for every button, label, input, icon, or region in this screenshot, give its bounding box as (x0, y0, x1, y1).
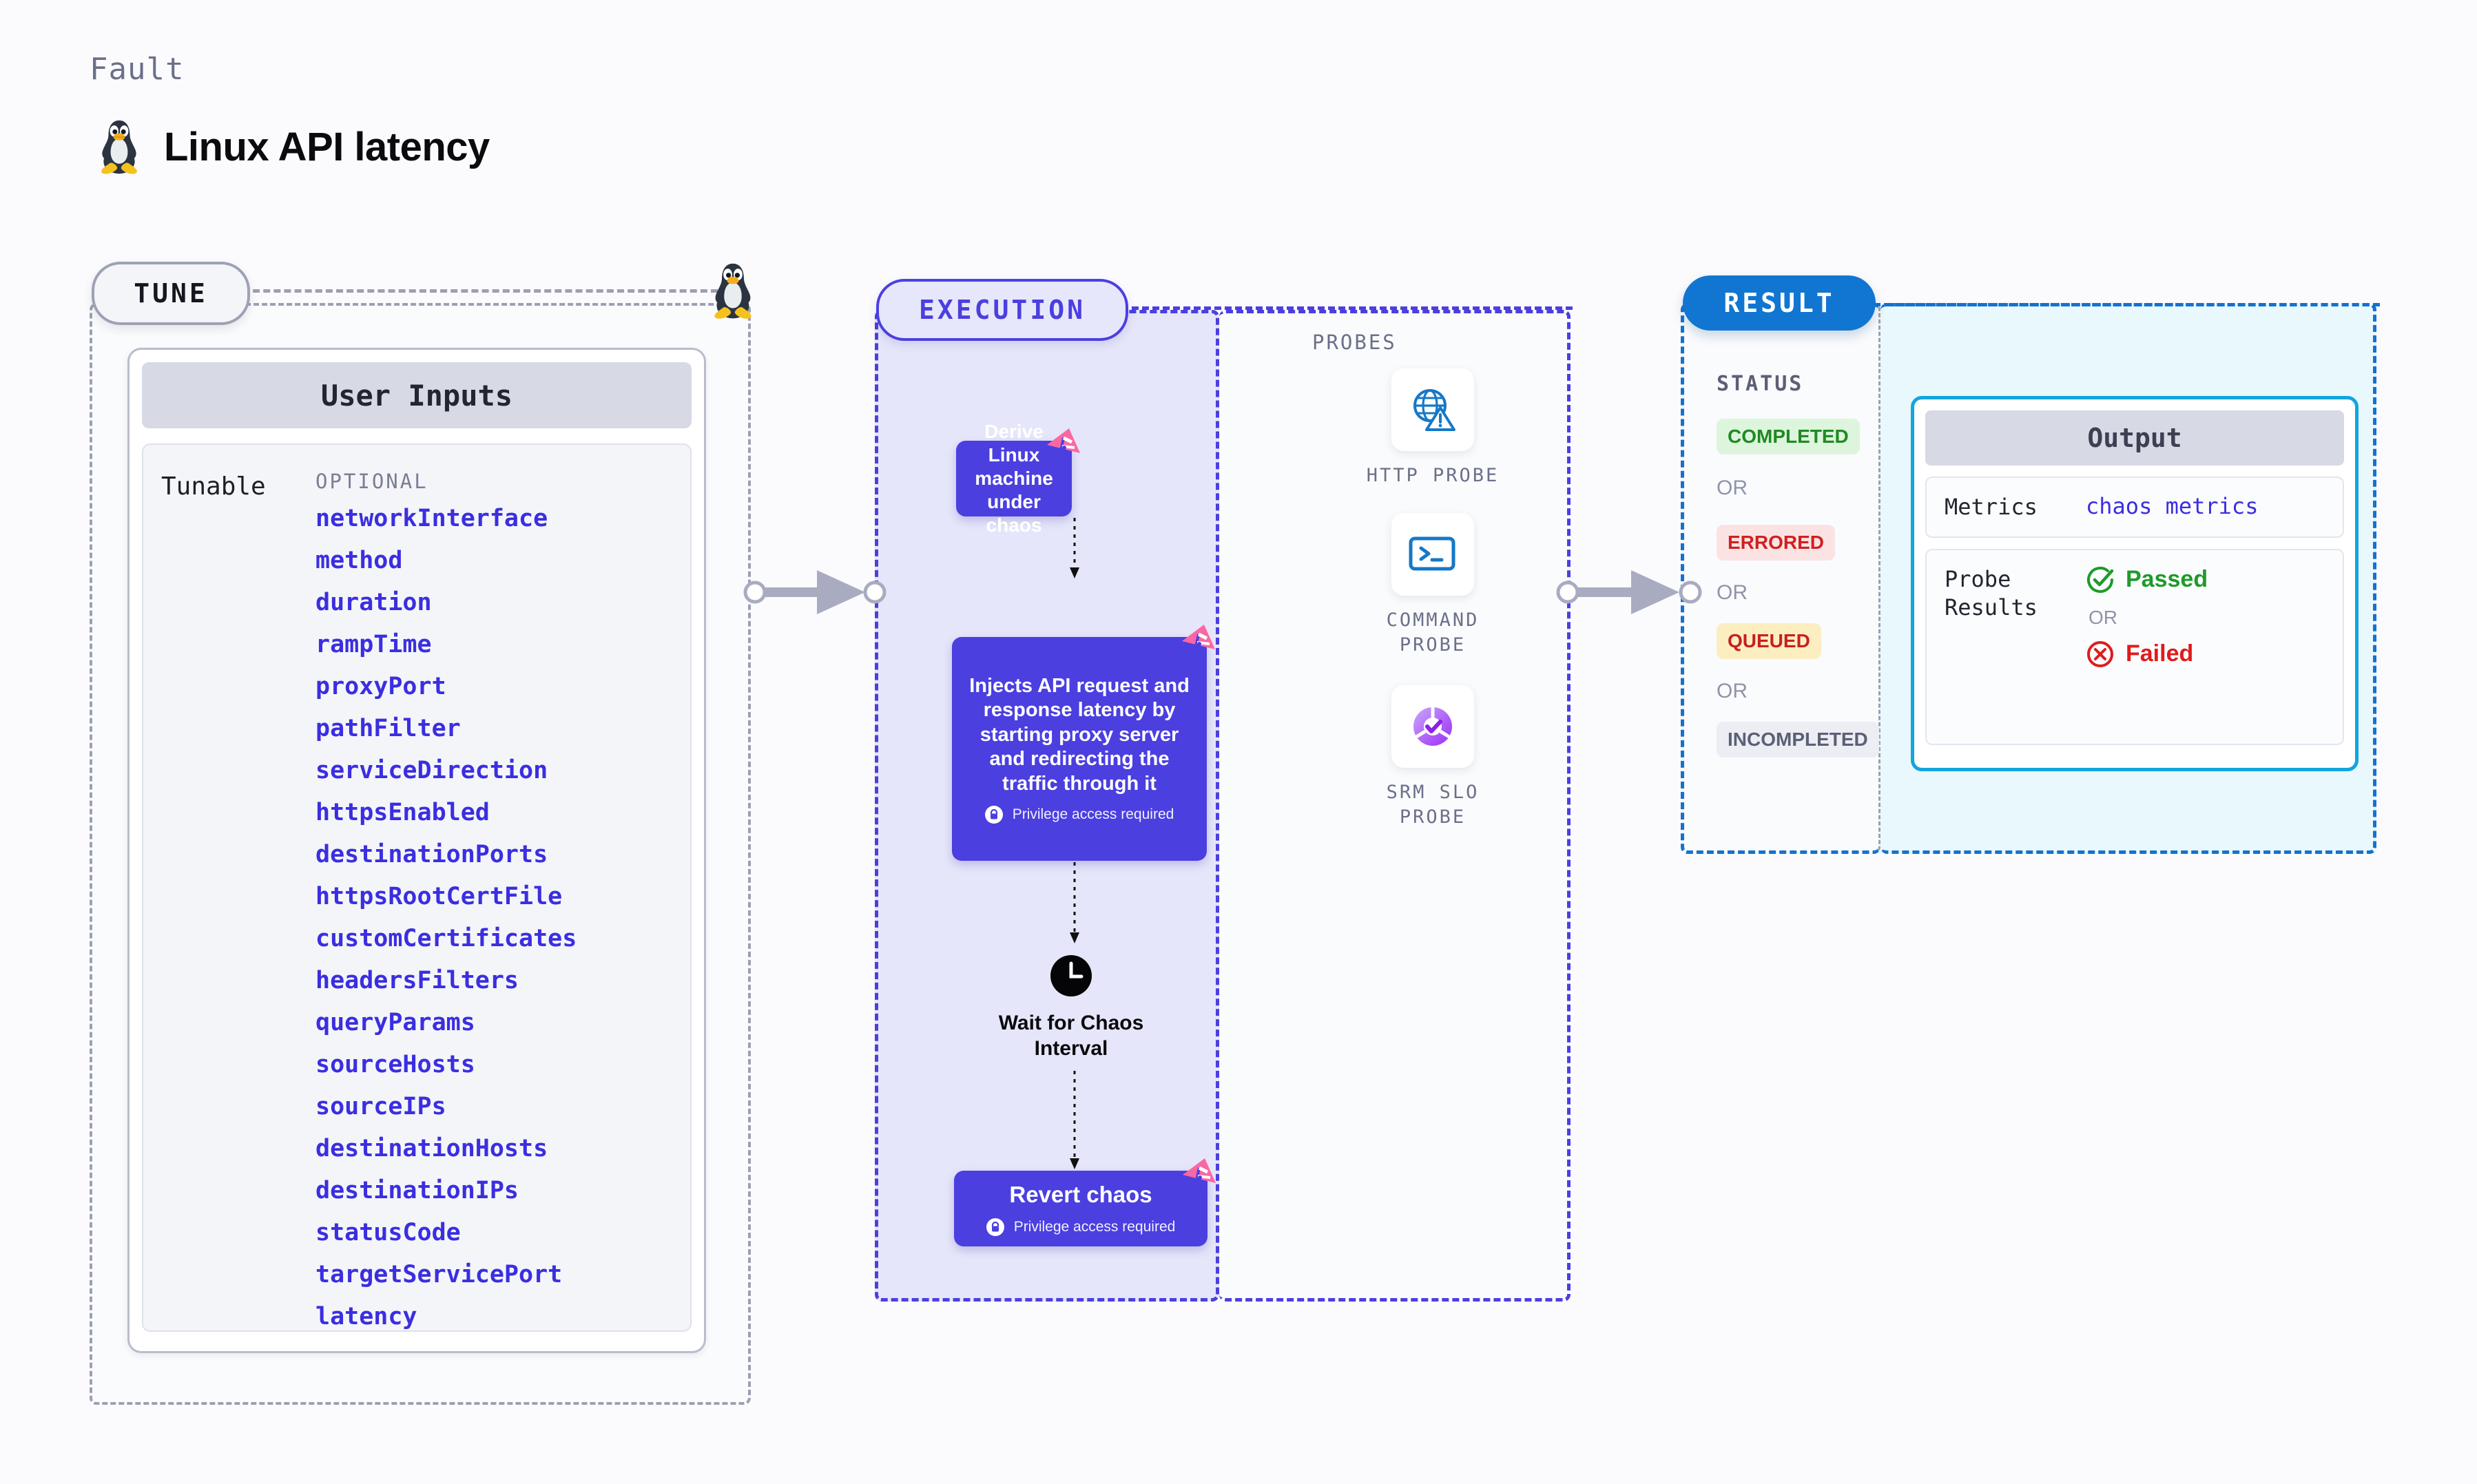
tunable-param[interactable]: statusCode (315, 1221, 690, 1245)
privilege-access-text: Privilege access required (1014, 1218, 1176, 1236)
privilege-access-note: Privilege access required (986, 1218, 1176, 1236)
optional-section-label: OPTIONAL (315, 470, 690, 493)
slo-donut-check-icon (1391, 685, 1474, 768)
status-badge-incompleted: INCOMPLETED (1717, 722, 1879, 757)
probe-http[interactable]: HTTP PROBE (1354, 368, 1512, 488)
result-connector-line (1874, 303, 2380, 306)
probe-label: HTTP PROBE (1354, 463, 1512, 488)
clock-icon (1049, 989, 1093, 1001)
tunable-param[interactable]: method (315, 549, 690, 573)
tunable-param[interactable]: headersFilters (315, 969, 690, 993)
probe-label: SRM SLO PROBE (1354, 780, 1512, 830)
status-badge-queued: QUEUED (1717, 623, 1821, 659)
execution-node-revert-chaos[interactable]: Revert chaos Privilege access required (954, 1171, 1208, 1246)
probe-label: COMMAND PROBE (1354, 608, 1512, 658)
execution-node-text: Revert chaos (1009, 1181, 1152, 1209)
connector-tune-to-execution (743, 565, 887, 623)
output-probe-results-row: Probe Results Passed OR Failed (1925, 549, 2344, 745)
tune-pill-label: TUNE (134, 278, 208, 309)
tunable-param[interactable]: serviceDirection (315, 759, 690, 783)
tunable-param[interactable]: sourceIPs (315, 1095, 690, 1119)
tune-connector-line (242, 289, 718, 293)
passed-label: Passed (2126, 566, 2208, 593)
probe-srm-slo[interactable]: SRM SLO PROBE (1354, 685, 1512, 830)
user-inputs-card: User Inputs Tunable OPTIONAL networkInte… (127, 348, 706, 1353)
tunable-param[interactable]: queryParams (315, 1011, 690, 1035)
tunable-param[interactable]: duration (315, 591, 690, 615)
linux-tux-icon (96, 117, 142, 176)
status-badge-errored: ERRORED (1717, 525, 1835, 561)
metrics-value-link[interactable]: chaos metrics (2086, 493, 2258, 521)
tunable-param[interactable]: pathFilter (315, 717, 690, 741)
output-card: Output Metrics chaos metrics Probe Resul… (1911, 396, 2359, 771)
page-title: Linux API latency (164, 124, 490, 170)
tunable-param[interactable]: networkInterface (315, 507, 690, 531)
chaos-badge-icon (1180, 1157, 1217, 1191)
tune-pill[interactable]: TUNE (92, 262, 250, 325)
fault-title-row: Linux API latency (96, 117, 490, 176)
execution-pill-label: EXECUTION (919, 295, 1086, 325)
wait-node-label: Wait for Chaos Interval (968, 1011, 1174, 1061)
execution-pill[interactable]: EXECUTION (876, 279, 1128, 341)
output-title: Output (1925, 410, 2344, 466)
check-circle-icon (2086, 565, 2115, 594)
status-badge-completed: COMPLETED (1717, 419, 1860, 454)
tunable-param[interactable]: rampTime (315, 633, 690, 657)
terminal-icon (1391, 513, 1474, 596)
tunable-param[interactable]: proxyPort (315, 675, 690, 699)
tunable-param[interactable]: targetServicePort (315, 1263, 690, 1287)
privilege-access-text: Privilege access required (1013, 806, 1174, 824)
flow-arrow-1 (1066, 518, 1083, 583)
user-inputs-title: User Inputs (142, 362, 692, 428)
probe-result-passed: Passed (2086, 565, 2208, 594)
status-or-label: OR (1717, 477, 1748, 500)
status-title: STATUS (1717, 372, 1803, 396)
tune-linux-tux-icon (709, 260, 756, 321)
probe-command[interactable]: COMMAND PROBE (1354, 513, 1512, 658)
connector-execution-to-result (1555, 565, 1703, 623)
result-pill-label: RESULT (1723, 288, 1834, 318)
tunable-param[interactable]: latency (315, 1305, 690, 1329)
lock-icon (986, 1218, 1004, 1236)
execution-connector-line (1121, 306, 1573, 310)
x-circle-icon (2086, 640, 2115, 669)
tunable-param[interactable]: sourceHosts (315, 1053, 690, 1077)
status-or-label: OR (1717, 581, 1748, 605)
probe-result-or-label: OR (2089, 607, 2208, 629)
tunable-param[interactable]: httpsEnabled (315, 801, 690, 825)
probe-results-key-label: Probe Results (1945, 565, 2086, 622)
probe-result-failed: Failed (2086, 640, 2208, 669)
tunable-param[interactable]: httpsRootCertFile (315, 885, 690, 909)
tunable-param[interactable]: destinationPorts (315, 843, 690, 867)
fault-kicker-label: Fault (90, 52, 184, 87)
execution-node-derive[interactable]: Derive Linux machine under chaos (956, 441, 1072, 516)
globe-warning-icon (1391, 368, 1474, 451)
status-or-label: OR (1717, 680, 1748, 703)
lock-icon (985, 806, 1003, 824)
privilege-access-note: Privilege access required (985, 806, 1174, 824)
execution-node-inject-latency[interactable]: Injects API request and response latency… (952, 637, 1207, 861)
metrics-key-label: Metrics (1945, 493, 2086, 521)
wait-for-chaos-interval-node: Wait for Chaos Interval (968, 954, 1174, 1061)
probes-title: PROBES (1312, 331, 1397, 354)
chaos-badge-icon (1179, 623, 1216, 658)
execution-node-text: Injects API request and response latency… (967, 674, 1192, 796)
failed-label: Failed (2126, 640, 2193, 667)
tunable-label: Tunable (161, 472, 266, 501)
tunable-param[interactable]: customCertificates (315, 927, 690, 951)
flow-arrow-3 (1066, 1071, 1083, 1174)
tunable-param[interactable]: destinationIPs (315, 1179, 690, 1203)
result-pill[interactable]: RESULT (1683, 275, 1876, 331)
output-metrics-row: Metrics chaos metrics (1925, 477, 2344, 538)
chaos-badge-icon (1044, 427, 1081, 461)
tunable-param[interactable]: destinationHosts (315, 1137, 690, 1161)
tunable-box: Tunable OPTIONAL networkInterface method… (142, 443, 692, 1332)
flow-arrow-2 (1066, 862, 1083, 948)
